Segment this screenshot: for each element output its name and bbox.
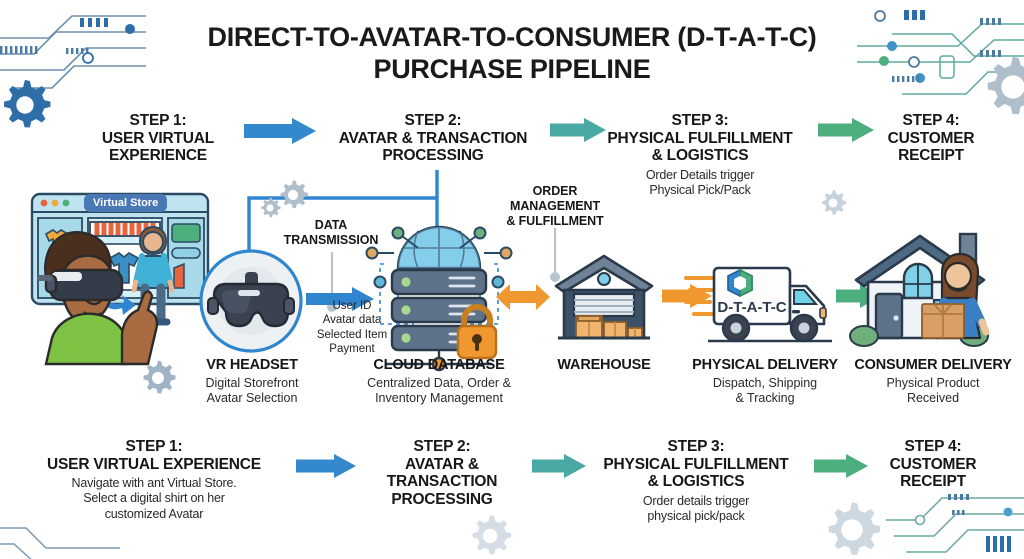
bottom-step-4: STEP 4: CUSTOMER RECEIPT <box>860 438 1006 491</box>
order-mgmt-line1: ORDER <box>493 184 617 199</box>
caption-cloud-database-title: CLOUD DATABASE <box>348 357 530 374</box>
circuit-trace-icon-bottom-right <box>886 486 1024 559</box>
bottom-step-2-line3: TRANSACTION <box>362 473 522 491</box>
bottom-step-1: STEP 1: USER VIRTUAL EXPERIENCE Navigate… <box>20 438 288 522</box>
delivery-truck-icon: D-T-A-T-C <box>686 250 838 350</box>
bottom-step-2: STEP 2: AVATAR & TRANSACTION PROCESSING <box>362 438 522 508</box>
caption-cloud-database-sub1: Centralized Data, Order & <box>348 376 530 392</box>
virtual-store-badge: Virtual Store <box>84 194 167 212</box>
caption-warehouse-title: WAREHOUSE <box>536 357 672 374</box>
caption-cloud-database: CLOUD DATABASE Centralized Data, Order &… <box>348 357 530 407</box>
top-step-4-line2: CUSTOMER <box>856 130 1006 148</box>
caption-consumer-delivery-sub2: Received <box>848 391 1018 407</box>
top-step-1-title: STEP 1: <box>58 112 258 130</box>
bottom-step-2-title: STEP 2: <box>362 438 522 456</box>
bottom-step-4-line2: CUSTOMER <box>860 456 1006 474</box>
bottom-step-3: STEP 3: PHYSICAL FULFILLMENT & LOGISTICS… <box>588 438 804 524</box>
caption-cloud-database-sub2: Inventory Management <box>348 391 530 407</box>
title-line-2: PURCHASE PIPELINE <box>0 54 1024 86</box>
caption-vr-headset-sub1: Digital Storefront <box>176 376 328 392</box>
gear-icon-bottom-right <box>820 498 884 559</box>
top-arrow-1-2 <box>244 114 316 148</box>
warehouse-icon <box>552 246 656 350</box>
caption-physical-delivery-title: PHYSICAL DELIVERY <box>682 357 848 374</box>
vr-headset-icon <box>198 248 304 354</box>
page-title: DIRECT-TO-AVATAR-TO-CONSUMER (D-T-A-T-C)… <box>0 22 1024 86</box>
caption-consumer-delivery-title: CONSUMER DELIVERY <box>848 357 1018 374</box>
caption-vr-headset: VR HEADSET Digital Storefront Avatar Sel… <box>176 357 328 407</box>
caption-warehouse: WAREHOUSE <box>536 357 672 374</box>
top-step-2-header: STEP 2: AVATAR & TRANSACTION PROCESSING <box>320 112 546 165</box>
bottom-step-3-line2: PHYSICAL FULFILLMENT <box>588 456 804 474</box>
caption-physical-delivery: PHYSICAL DELIVERY Dispatch, Shipping & T… <box>682 357 848 407</box>
gear-icon-step3-top <box>818 188 848 218</box>
title-line-1: DIRECT-TO-AVATAR-TO-CONSUMER (D-T-A-T-C) <box>208 22 817 52</box>
bottom-step-3-line3: & LOGISTICS <box>588 473 804 491</box>
bottom-step-3-sub1: Order details trigger <box>588 494 804 509</box>
bottom-step-2-line4: PROCESSING <box>362 491 522 509</box>
cloud-database-icon <box>366 206 512 354</box>
gear-icon-mid-left-small <box>258 196 282 220</box>
truck-brand-text: D-T-A-T-C <box>717 299 786 316</box>
circuit-trace-icon-bottom-left <box>0 512 116 559</box>
top-step-3-title: STEP 3: <box>592 112 808 130</box>
caption-physical-delivery-sub1: Dispatch, Shipping <box>682 376 848 392</box>
bottom-step-1-sub1: Navigate with ant Virtual Store. <box>20 476 288 491</box>
top-step-1-line2: USER VIRTUAL <box>58 130 258 148</box>
bottom-step-2-line2: AVATAR & <box>362 456 522 474</box>
caption-consumer-delivery: CONSUMER DELIVERY Physical Product Recei… <box>848 357 1018 407</box>
bottom-step-1-line2: USER VIRTUAL EXPERIENCE <box>20 456 288 474</box>
bottom-step-3-title: STEP 3: <box>588 438 804 456</box>
virtual-store-scene <box>22 186 214 364</box>
top-step-1-header: STEP 1: USER VIRTUAL EXPERIENCE <box>58 112 258 165</box>
arrow-database-to-warehouse-bidirectional <box>496 278 550 316</box>
bottom-step-1-sub2: Select a digital shirt on her <box>20 491 288 506</box>
gear-icon-bottom-center <box>466 512 514 559</box>
infographic-canvas: DIRECT-TO-AVATAR-TO-CONSUMER (D-T-A-T-C)… <box>0 0 1024 559</box>
caption-vr-headset-sub2: Avatar Selection <box>176 391 328 407</box>
bottom-step-1-title: STEP 1: <box>20 438 288 456</box>
caption-vr-headset-title: VR HEADSET <box>176 357 328 374</box>
consumer-delivery-scene <box>848 226 1016 352</box>
caption-physical-delivery-sub2: & Tracking <box>682 391 848 407</box>
bottom-arrow-1-2 <box>296 450 358 482</box>
top-step-4-title: STEP 4: <box>856 112 1006 130</box>
bottom-step-4-title: STEP 4: <box>860 438 1006 456</box>
top-step-4-header: STEP 4: CUSTOMER RECEIPT <box>856 112 1006 165</box>
top-step-2-line2: AVATAR & TRANSACTION <box>320 130 546 148</box>
bottom-arrow-2-3 <box>532 450 588 482</box>
caption-consumer-delivery-sub1: Physical Product <box>848 376 1018 392</box>
bottom-step-3-sub2: physical pick/pack <box>588 509 804 524</box>
top-step-2-title: STEP 2: <box>320 112 546 130</box>
top-step-3-line2: PHYSICAL FULFILLMENT <box>592 130 808 148</box>
